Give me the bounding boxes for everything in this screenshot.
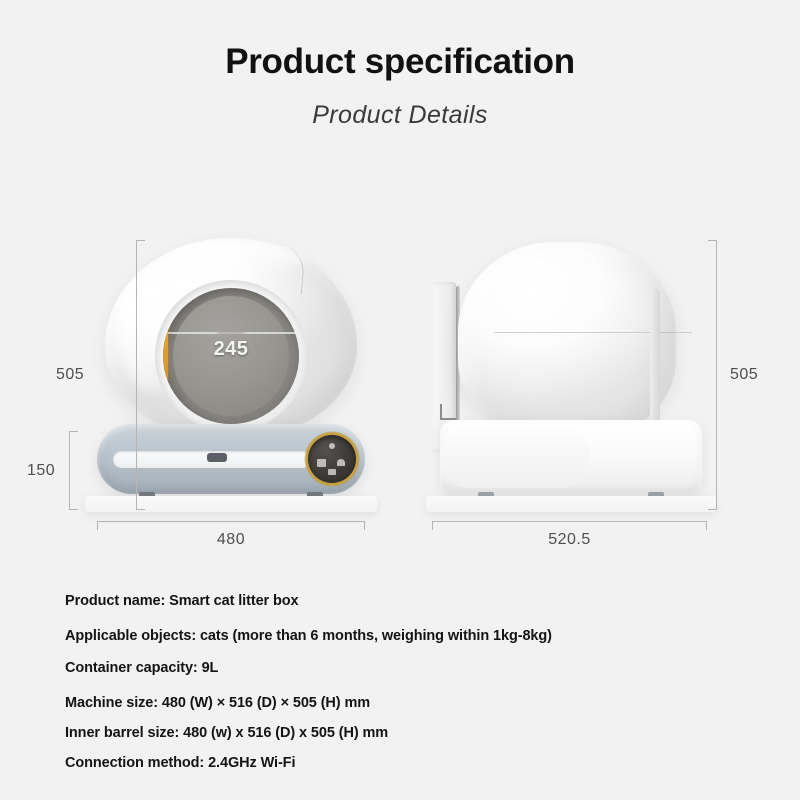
- side-bracket-notch-icon: [440, 404, 456, 420]
- bracket-tick-right: [706, 521, 707, 530]
- paw-print-icon: [217, 316, 245, 340]
- amber-indicator-strip: [163, 320, 168, 382]
- side-height-label: 505: [730, 366, 758, 384]
- control-panel-dial[interactable]: [308, 435, 356, 483]
- specification-list: Product name: Smart cat litter box Appli…: [65, 593, 705, 771]
- power-icon: [329, 443, 335, 449]
- bracket-tick-top: [136, 240, 145, 241]
- drum-display-value: 245: [163, 338, 299, 361]
- spec-applicable-objects: Applicable objects: cats (more than 6 mo…: [65, 628, 705, 644]
- bracket-tick-bottom: [136, 509, 145, 510]
- bracket-stem: [136, 240, 137, 510]
- bracket-tick-bottom: [69, 509, 78, 510]
- settings-icon: [317, 459, 326, 467]
- spec-connection-method: Connection method: 2.4GHz Wi-Fi: [65, 755, 705, 771]
- side-seam-line: [494, 332, 692, 333]
- front-base-height-label: 150: [27, 462, 55, 480]
- side-view-product-image: [432, 238, 707, 513]
- bracket-tick-right: [364, 521, 365, 530]
- bracket-stem: [97, 521, 365, 522]
- side-base-rounded-end: [440, 426, 590, 488]
- front-width-label: 480: [0, 531, 462, 549]
- front-height-label: 505: [56, 366, 84, 384]
- spec-machine-size: Machine size: 480 (W) × 516 (D) × 505 (H…: [65, 695, 705, 711]
- bracket-tick-top: [708, 240, 717, 241]
- page-subtitle: Product Details: [0, 101, 800, 130]
- front-base: [97, 424, 365, 494]
- bracket-tick-top: [69, 431, 78, 432]
- spec-inner-barrel-size: Inner barrel size: 480 (w) x 516 (D) x 5…: [65, 725, 705, 741]
- front-view-platform-shadow: [85, 496, 377, 512]
- side-view-platform-shadow: [426, 496, 716, 512]
- page-title: Product specification: [0, 42, 800, 82]
- drum-opening: 245: [163, 288, 299, 424]
- spec-product-name: Product name: Smart cat litter box: [65, 593, 705, 609]
- bracket-tick-left: [97, 521, 98, 530]
- bracket-stem: [716, 240, 717, 510]
- drawer-handle: [207, 453, 227, 462]
- bracket-stem: [432, 521, 707, 522]
- bracket-tick-bottom: [708, 509, 717, 510]
- bracket-stem: [69, 431, 70, 510]
- product-specification-page: Product specification Product Details 24…: [0, 0, 800, 800]
- side-right-rail: [650, 288, 660, 440]
- spec-container-capacity: Container capacity: 9L: [65, 660, 705, 676]
- side-depth-label: 520.5: [432, 531, 707, 549]
- bracket-tick-left: [432, 521, 433, 530]
- clean-icon: [337, 459, 345, 466]
- side-body: [458, 242, 676, 438]
- front-view-product-image: 245: [97, 238, 365, 513]
- mode-icon: [328, 469, 336, 475]
